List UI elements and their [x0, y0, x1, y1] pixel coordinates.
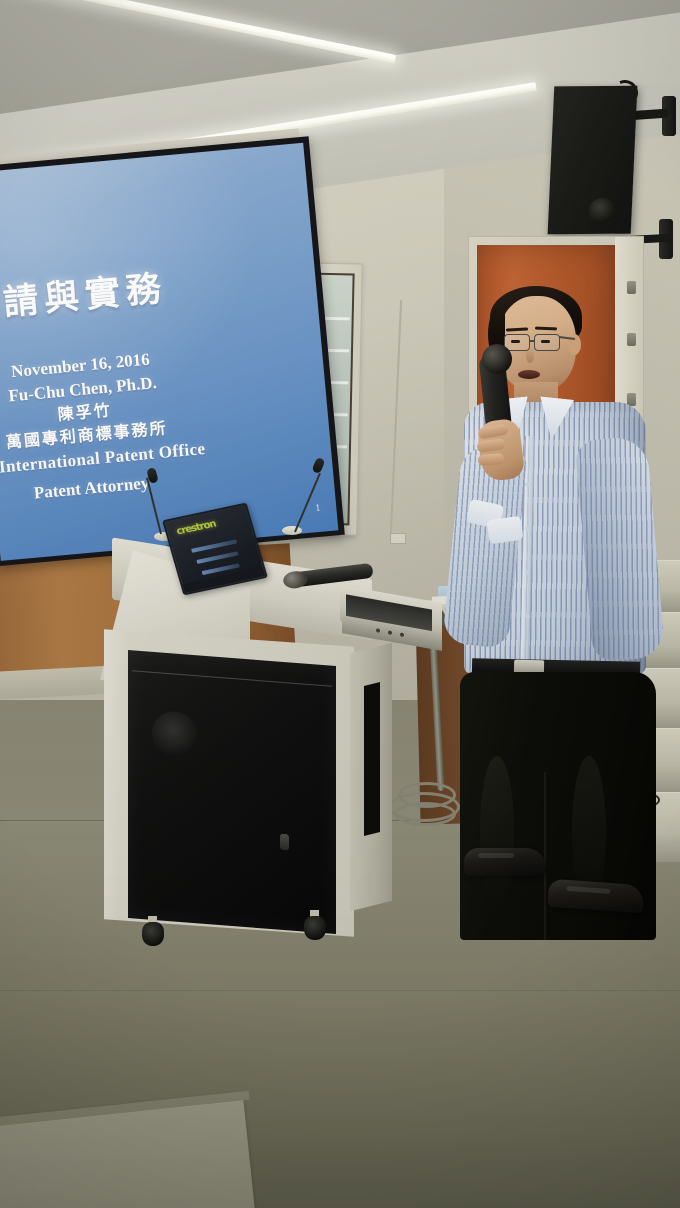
av-podium[interactable]: crestron: [92, 498, 422, 948]
mouth: [518, 370, 540, 379]
podium-side-vent: [364, 682, 380, 836]
podium-vent-icon: [152, 710, 198, 760]
wall-loudspeaker: [548, 86, 638, 234]
nose: [526, 348, 534, 363]
slide-title: 利申請與實務: [0, 255, 223, 333]
podium-lock-icon[interactable]: [280, 834, 289, 851]
eyeglasses-bridge: [530, 340, 535, 342]
slide-body: November 16, 2016 Fu-Chu Chen, Ph.D. 陳孚竹…: [0, 341, 237, 514]
podium-caster: [304, 916, 326, 940]
shoe-left: [464, 848, 546, 876]
shirt-cuff-right: [486, 516, 523, 544]
presenter: [440, 286, 670, 946]
gooseneck-mic-base-right: [282, 526, 302, 535]
touchscreen-logo: crestron: [175, 519, 217, 538]
speaker-cone-icon: [588, 198, 615, 224]
podium-equipment-door[interactable]: [128, 650, 336, 934]
podium-caster: [142, 922, 164, 946]
lecture-photo: 利申請與實務 November 16, 2016 Fu-Chu Chen, Ph…: [0, 0, 680, 1208]
trouser-crease: [544, 772, 546, 940]
